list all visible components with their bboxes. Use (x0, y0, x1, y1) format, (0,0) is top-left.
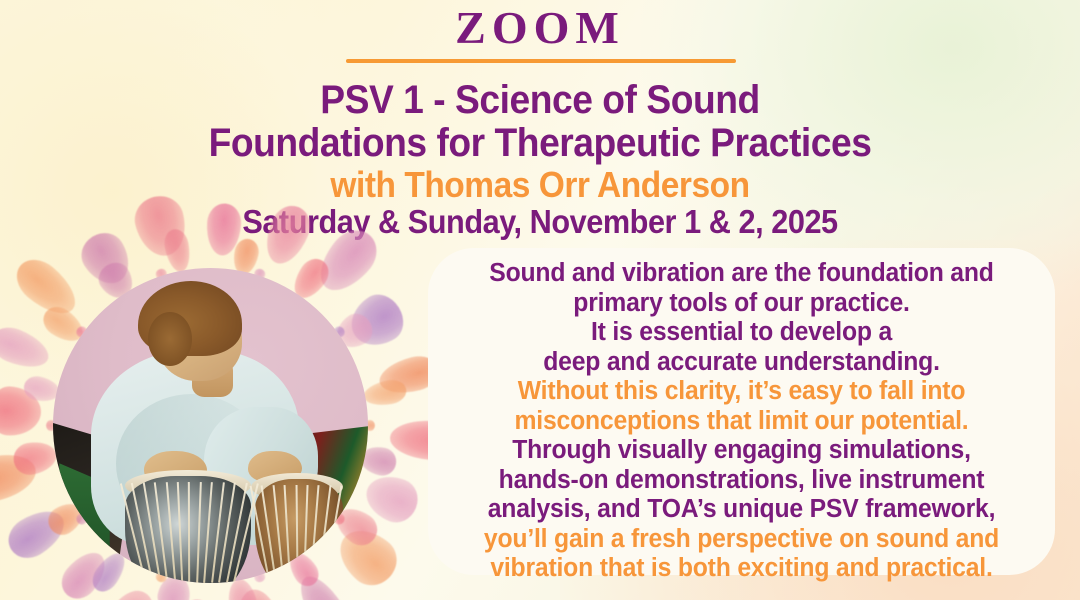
description-line: you’ll gain a fresh perspective on sound… (437, 525, 1045, 555)
description-line: hands-on demonstrations, live instrument (437, 466, 1045, 496)
description-line: It is essential to develop a (437, 318, 1045, 348)
description-panel: Sound and vibration are the foundation a… (428, 248, 1055, 575)
course-dates: Saturday & Sunday, November 1 & 2, 2025 (38, 205, 1042, 239)
drum-lace (295, 485, 298, 573)
description-line: deep and accurate understanding. (437, 348, 1045, 378)
description-line: primary tools of our practice. (437, 289, 1045, 319)
description-line: Without this clarity, it’s easy to fall … (437, 377, 1045, 407)
description-line: vibration that is both exciting and prac… (437, 554, 1045, 584)
presenter-photo (53, 268, 368, 583)
title-divider (346, 59, 736, 63)
description-line: Through visually engaging simulations, (437, 436, 1045, 466)
description-line: misconceptions that limit our potential. (437, 407, 1045, 437)
description-text: Sound and vibration are the foundation a… (428, 259, 1055, 584)
course-title-line-2: Foundations for Therapeutic Practices (38, 123, 1042, 164)
presenter-name: with Thomas Orr Anderson (38, 167, 1042, 204)
flyer-canvas: ZOOM PSV 1 - Science of Sound Foundation… (0, 0, 1080, 600)
platform-label: ZOOM (0, 4, 1080, 52)
description-line: analysis, and TOA’s unique PSV framework… (437, 495, 1045, 525)
description-line: Sound and vibration are the foundation a… (437, 259, 1045, 289)
photo-hair-curl (148, 312, 192, 366)
course-title-line-1: PSV 1 - Science of Sound (38, 80, 1042, 121)
